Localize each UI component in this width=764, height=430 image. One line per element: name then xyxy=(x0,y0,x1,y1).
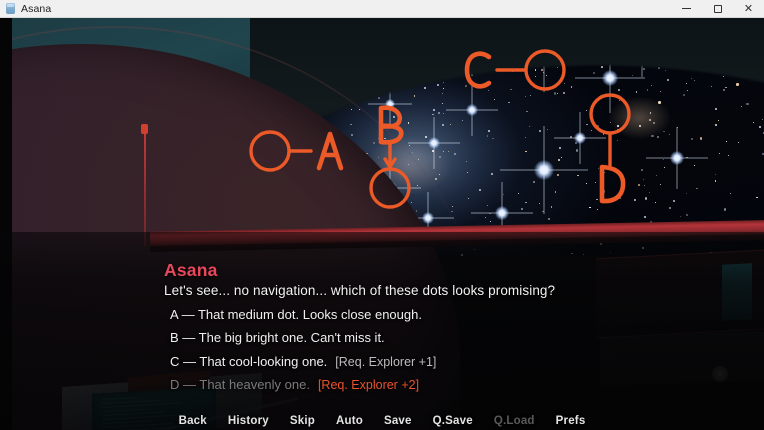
minimize-icon xyxy=(682,8,691,9)
game-viewport[interactable]: Asana Let's see... no navigation... whic… xyxy=(0,18,764,430)
minimize-button[interactable] xyxy=(671,0,702,18)
quick-menu-history[interactable]: History xyxy=(228,415,269,427)
choice-text: B — The big bright one. Can't miss it. xyxy=(170,330,385,345)
quick-menu-prefs[interactable]: Prefs xyxy=(556,415,586,427)
choice-list: A — That medium dot. Looks close enough.… xyxy=(170,308,730,402)
speaker-name: Asana xyxy=(164,260,218,281)
dialogue-box[interactable]: Asana Let's see... no navigation... whic… xyxy=(0,232,764,430)
choice-text: D — That heavenly one. xyxy=(170,377,310,392)
close-icon: ✕ xyxy=(744,3,753,14)
choice-option-a[interactable]: A — That medium dot. Looks close enough. xyxy=(170,308,730,321)
choice-option-b[interactable]: B — The big bright one. Can't miss it. xyxy=(170,331,730,344)
quick-menu-back[interactable]: Back xyxy=(179,415,207,427)
choice-requirement-badge: [Req. Explorer +1] xyxy=(335,355,436,369)
antenna-mast xyxy=(144,130,146,246)
maximize-icon xyxy=(714,5,722,13)
application-window: Asana ✕ xyxy=(0,0,764,430)
maximize-button[interactable] xyxy=(702,0,733,18)
quick-menu-q-load: Q.Load xyxy=(494,415,535,427)
choice-requirement-badge: [Req. Explorer +2] xyxy=(318,378,419,392)
close-button[interactable]: ✕ xyxy=(733,0,764,18)
window-controls: ✕ xyxy=(671,0,764,18)
quick-menu: BackHistorySkipAutoSaveQ.SaveQ.LoadPrefs xyxy=(0,415,764,427)
dialogue-text: Let's see... no navigation... which of t… xyxy=(164,283,744,298)
quick-menu-auto[interactable]: Auto xyxy=(336,415,363,427)
antenna-light xyxy=(141,124,148,134)
title-bar: Asana ✕ xyxy=(0,0,764,18)
choice-option-d: D — That heavenly one.[Req. Explorer +2] xyxy=(170,378,730,392)
quick-menu-skip[interactable]: Skip xyxy=(290,415,315,427)
app-icon xyxy=(6,3,15,14)
quick-menu-save[interactable]: Save xyxy=(384,415,412,427)
choice-text: C — That cool-looking one. xyxy=(170,354,327,369)
quick-menu-q-save[interactable]: Q.Save xyxy=(433,415,473,427)
choice-option-c[interactable]: C — That cool-looking one.[Req. Explorer… xyxy=(170,355,730,369)
window-title: Asana xyxy=(21,3,51,15)
choice-text: A — That medium dot. Looks close enough. xyxy=(170,307,422,322)
